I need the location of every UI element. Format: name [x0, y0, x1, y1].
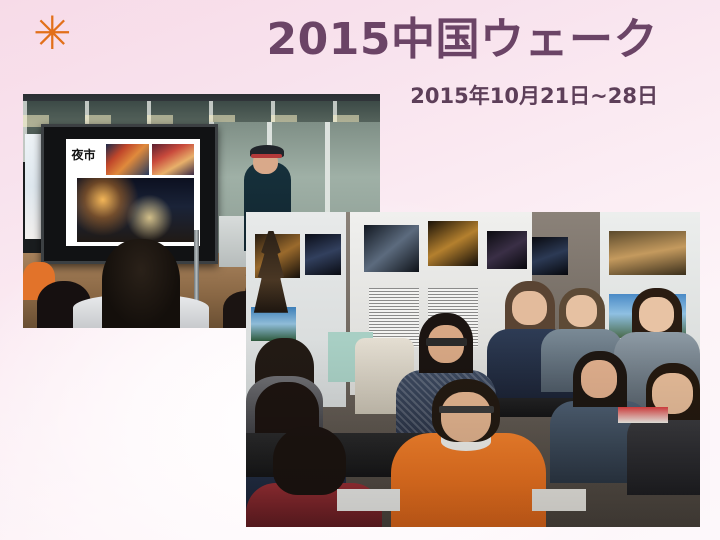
- presentation-slide: ✳ 2015中国ウェーク 2015年10月21日~28日 夜市: [0, 0, 720, 540]
- photo1-left-poster: [25, 134, 41, 239]
- page-subtitle: 2015年10月21日~28日: [410, 82, 658, 110]
- photo2-vignette: [246, 212, 700, 527]
- photo1-presenter-headband: [251, 154, 281, 158]
- photo1-audience-center-head: [102, 239, 181, 328]
- photo1-slide-caption: 夜市: [71, 146, 95, 163]
- photo1-screen-stand-right: [194, 230, 199, 310]
- photo1-slide-image-a: [106, 144, 149, 175]
- photo1-projected-slide: 夜市: [66, 139, 200, 246]
- page-title: 2015中国ウェーク: [267, 12, 658, 68]
- photo1-slide-image-b: [152, 144, 195, 175]
- audience-photo: [246, 212, 700, 527]
- photo1-slide-image-c: [77, 178, 195, 242]
- asterisk-icon: ✳: [33, 18, 67, 52]
